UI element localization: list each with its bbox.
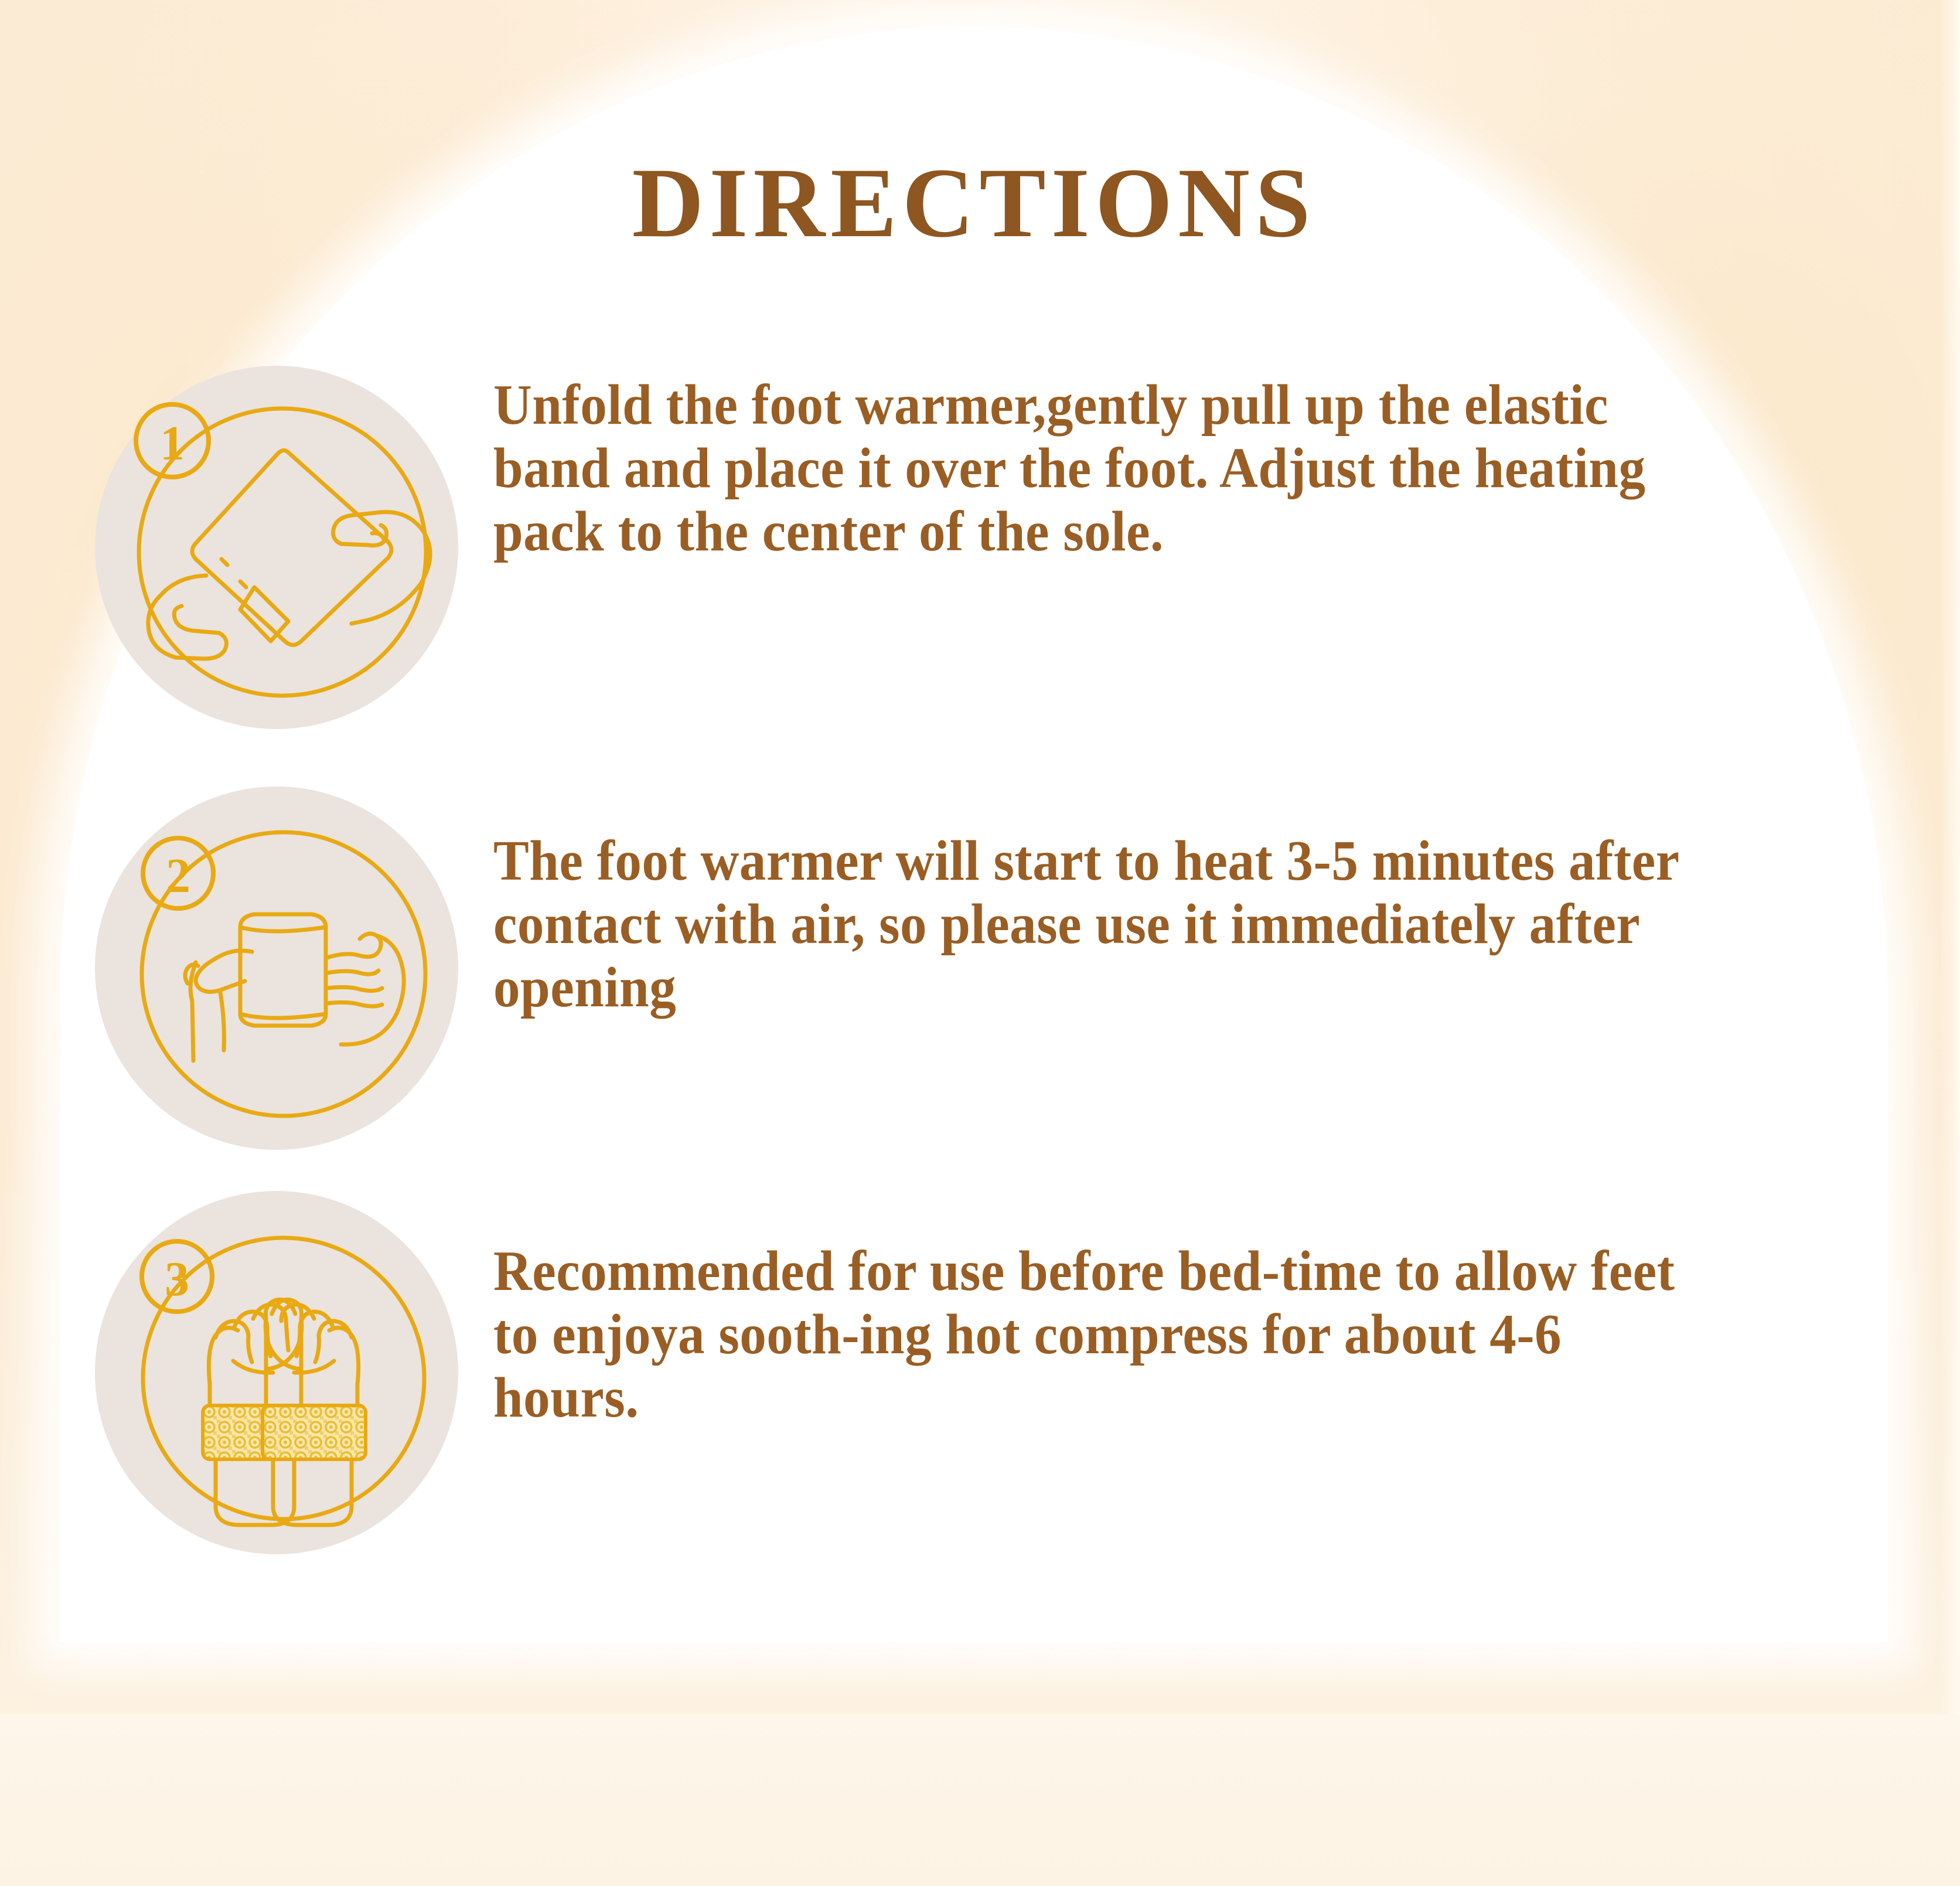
step-3-number: 3 [165,1252,189,1306]
hands-unfolding-foot-warmer-icon: 1 [95,366,458,729]
step-2-icon-wrap: 2 [60,765,493,1150]
step-3-icon-disc: 3 [95,1191,458,1554]
slipper-band-right [263,1405,366,1459]
step-3-icon-wrap: 3 [60,1176,493,1554]
step-2-icon-disc: 2 [95,787,458,1150]
steps-list: 1 Unfold the foot warmer,gently pull up … [60,355,1888,1586]
step-item-2: 2 The foot warmer will start to heat 3-5… [60,765,1888,1176]
step-3-text: Recommended for use before bed-time to a… [493,1176,1790,1429]
step-1-icon-wrap: 1 [60,355,493,729]
background-edge-highlight [1940,0,1960,1714]
step-1-icon-disc: 1 [95,366,458,729]
feet-in-warming-slippers-icon: 3 [95,1191,458,1554]
step-item-1: 1 Unfold the foot warmer,gently pull up … [60,355,1888,765]
step-2-text: The foot warmer will start to heat 3-5 m… [493,765,1790,1019]
step-2-number: 2 [166,849,190,903]
step-1-number: 1 [160,416,185,471]
hands-holding-heating-pack-icon: 2 [95,787,458,1150]
content-area: DIRECTIONS [60,27,1888,1642]
page-title: DIRECTIONS [60,153,1888,253]
step-item-3: 3 Recommended for use before bed-time to… [60,1176,1888,1586]
step-1-text: Unfold the foot warmer,gently pull up th… [493,355,1790,563]
